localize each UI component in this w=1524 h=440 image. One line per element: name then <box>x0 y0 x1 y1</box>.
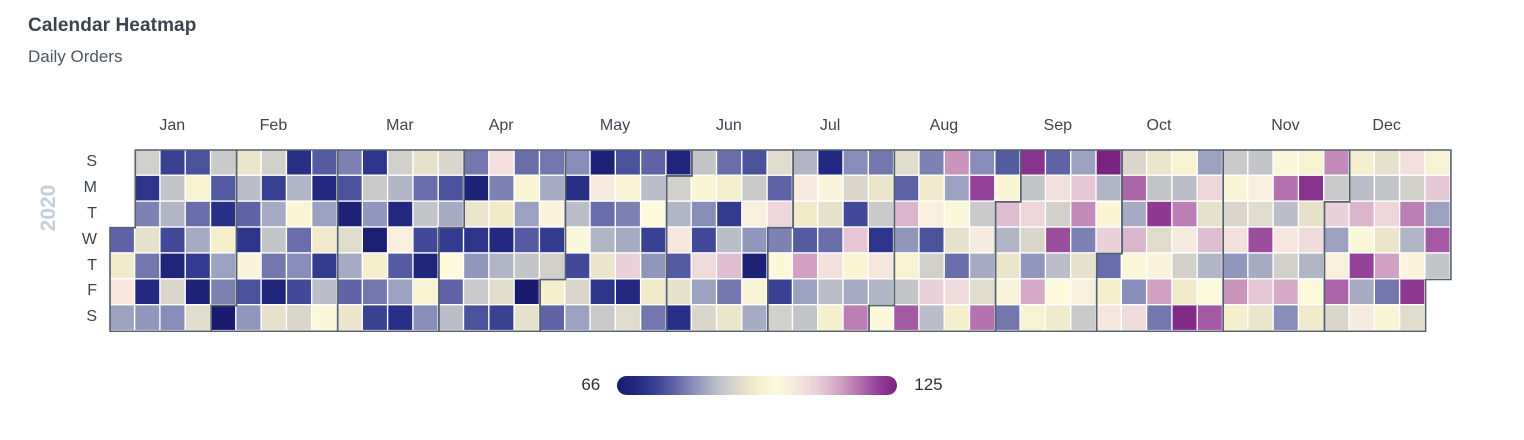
heatmap-cell[interactable] <box>237 305 261 330</box>
heatmap-cell[interactable] <box>667 202 691 227</box>
heatmap-cell[interactable] <box>920 305 944 330</box>
heatmap-cell[interactable] <box>565 228 589 253</box>
heatmap-cell[interactable] <box>641 280 665 305</box>
heatmap-cell[interactable] <box>894 305 918 330</box>
heatmap-cell[interactable] <box>1173 176 1197 201</box>
heatmap-cell[interactable] <box>287 305 311 330</box>
heatmap-cell[interactable] <box>1173 228 1197 253</box>
heatmap-cell[interactable] <box>1324 305 1348 330</box>
heatmap-cell[interactable] <box>439 228 463 253</box>
heatmap-cell[interactable] <box>743 176 767 201</box>
heatmap-cell[interactable] <box>135 305 159 330</box>
heatmap-cell[interactable] <box>616 176 640 201</box>
heatmap-cell[interactable] <box>1198 202 1222 227</box>
heatmap-cell[interactable] <box>894 280 918 305</box>
heatmap-cell[interactable] <box>818 176 842 201</box>
heatmap-cell[interactable] <box>464 150 488 175</box>
heatmap-cell[interactable] <box>591 176 615 201</box>
heatmap-cell[interactable] <box>490 280 514 305</box>
heatmap-cell[interactable] <box>1122 280 1146 305</box>
heatmap-cell[interactable] <box>591 228 615 253</box>
heatmap-cell[interactable] <box>1097 176 1121 201</box>
heatmap-cell[interactable] <box>1249 280 1273 305</box>
heatmap-cell[interactable] <box>1021 228 1045 253</box>
heatmap-cell[interactable] <box>1274 254 1298 279</box>
heatmap-cell[interactable] <box>1375 280 1399 305</box>
heatmap-cell[interactable] <box>135 280 159 305</box>
heatmap-cell[interactable] <box>338 280 362 305</box>
heatmap-cell[interactable] <box>996 150 1020 175</box>
heatmap-cell[interactable] <box>1122 254 1146 279</box>
heatmap-cell[interactable] <box>1324 280 1348 305</box>
heatmap-cell[interactable] <box>591 305 615 330</box>
heatmap-cell[interactable] <box>414 150 438 175</box>
heatmap-cell[interactable] <box>869 280 893 305</box>
heatmap-cell[interactable] <box>490 202 514 227</box>
heatmap-cell[interactable] <box>439 202 463 227</box>
heatmap-cell[interactable] <box>1046 150 1070 175</box>
heatmap-cell[interactable] <box>338 176 362 201</box>
heatmap-cell[interactable] <box>1249 228 1273 253</box>
heatmap-cell[interactable] <box>1173 202 1197 227</box>
heatmap-cell[interactable] <box>945 228 969 253</box>
heatmap-cell[interactable] <box>894 150 918 175</box>
heatmap-cell[interactable] <box>1071 254 1095 279</box>
heatmap-cell[interactable] <box>1375 305 1399 330</box>
heatmap-cell[interactable] <box>186 150 210 175</box>
heatmap-cell[interactable] <box>237 176 261 201</box>
heatmap-cell[interactable] <box>1173 280 1197 305</box>
heatmap-cell[interactable] <box>388 176 412 201</box>
heatmap-cell[interactable] <box>1299 305 1323 330</box>
heatmap-cell[interactable] <box>161 176 185 201</box>
heatmap-cell[interactable] <box>1071 202 1095 227</box>
heatmap-cell[interactable] <box>464 202 488 227</box>
heatmap-cell[interactable] <box>363 305 387 330</box>
heatmap-cell[interactable] <box>135 150 159 175</box>
heatmap-cell[interactable] <box>616 202 640 227</box>
heatmap-cell[interactable] <box>844 280 868 305</box>
heatmap-cell[interactable] <box>1426 202 1450 227</box>
heatmap-cell[interactable] <box>110 254 134 279</box>
heatmap-cell[interactable] <box>464 176 488 201</box>
heatmap-cell[interactable] <box>439 150 463 175</box>
heatmap-cell[interactable] <box>312 305 336 330</box>
heatmap-cell[interactable] <box>970 228 994 253</box>
heatmap-cell[interactable] <box>414 228 438 253</box>
heatmap-cell[interactable] <box>844 202 868 227</box>
heatmap-cell[interactable] <box>894 202 918 227</box>
heatmap-cell[interactable] <box>1400 254 1424 279</box>
heatmap-cell[interactable] <box>920 280 944 305</box>
heatmap-cell[interactable] <box>1122 228 1146 253</box>
heatmap-cell[interactable] <box>1400 150 1424 175</box>
heatmap-cell[interactable] <box>287 228 311 253</box>
heatmap-cell[interactable] <box>540 150 564 175</box>
heatmap-cell[interactable] <box>540 228 564 253</box>
heatmap-cell[interactable] <box>1249 254 1273 279</box>
heatmap-cell[interactable] <box>1350 280 1374 305</box>
heatmap-cell[interactable] <box>717 305 741 330</box>
heatmap-cell[interactable] <box>565 202 589 227</box>
heatmap-cell[interactable] <box>211 176 235 201</box>
heatmap-cell[interactable] <box>717 228 741 253</box>
heatmap-cell[interactable] <box>970 176 994 201</box>
heatmap-cell[interactable] <box>1350 176 1374 201</box>
heatmap-cell[interactable] <box>540 176 564 201</box>
heatmap-cell[interactable] <box>970 280 994 305</box>
heatmap-cell[interactable] <box>1198 280 1222 305</box>
heatmap-cell[interactable] <box>818 150 842 175</box>
heatmap-cell[interactable] <box>1021 305 1045 330</box>
heatmap-cell[interactable] <box>641 305 665 330</box>
heatmap-cell[interactable] <box>540 254 564 279</box>
heatmap-cell[interactable] <box>1299 228 1323 253</box>
heatmap-cell[interactable] <box>996 254 1020 279</box>
heatmap-cell[interactable] <box>1198 150 1222 175</box>
heatmap-cell[interactable] <box>565 176 589 201</box>
heatmap-cell[interactable] <box>515 228 539 253</box>
heatmap-cell[interactable] <box>894 176 918 201</box>
heatmap-cell[interactable] <box>161 202 185 227</box>
heatmap-cell[interactable] <box>262 202 286 227</box>
heatmap-cell[interactable] <box>1122 150 1146 175</box>
heatmap-cell[interactable] <box>844 150 868 175</box>
heatmap-cell[interactable] <box>743 305 767 330</box>
heatmap-cell[interactable] <box>1324 254 1348 279</box>
heatmap-cell[interactable] <box>464 228 488 253</box>
heatmap-cell[interactable] <box>1122 176 1146 201</box>
heatmap-cell[interactable] <box>540 305 564 330</box>
heatmap-cell[interactable] <box>388 202 412 227</box>
heatmap-cell[interactable] <box>743 202 767 227</box>
heatmap-cell[interactable] <box>211 202 235 227</box>
heatmap-cell[interactable] <box>1147 305 1171 330</box>
heatmap-cell[interactable] <box>768 150 792 175</box>
heatmap-cell[interactable] <box>1426 176 1450 201</box>
heatmap-cell[interactable] <box>237 280 261 305</box>
heatmap-cell[interactable] <box>743 150 767 175</box>
heatmap-cell[interactable] <box>667 280 691 305</box>
heatmap-cell[interactable] <box>464 280 488 305</box>
heatmap-cell[interactable] <box>1426 150 1450 175</box>
heatmap-cell[interactable] <box>920 254 944 279</box>
heatmap-cell[interactable] <box>211 305 235 330</box>
heatmap-cell[interactable] <box>565 254 589 279</box>
heatmap-cell[interactable] <box>1426 228 1450 253</box>
heatmap-cell[interactable] <box>1097 280 1121 305</box>
heatmap-cell[interactable] <box>1147 280 1171 305</box>
heatmap-cell[interactable] <box>692 280 716 305</box>
heatmap-cell[interactable] <box>894 228 918 253</box>
heatmap-cell[interactable] <box>1400 176 1424 201</box>
heatmap-cell[interactable] <box>1426 254 1450 279</box>
heatmap-cell[interactable] <box>312 176 336 201</box>
heatmap-cell[interactable] <box>1223 228 1247 253</box>
heatmap-cell[interactable] <box>287 150 311 175</box>
heatmap-cell[interactable] <box>1223 305 1247 330</box>
heatmap-cell[interactable] <box>211 254 235 279</box>
heatmap-cell[interactable] <box>287 176 311 201</box>
heatmap-cell[interactable] <box>515 305 539 330</box>
heatmap-cell[interactable] <box>844 305 868 330</box>
heatmap-cell[interactable] <box>667 305 691 330</box>
heatmap-cell[interactable] <box>1223 202 1247 227</box>
heatmap-cell[interactable] <box>565 305 589 330</box>
heatmap-cell[interactable] <box>388 228 412 253</box>
heatmap-cell[interactable] <box>1274 202 1298 227</box>
heatmap-cell[interactable] <box>363 280 387 305</box>
heatmap-cell[interactable] <box>1097 254 1121 279</box>
heatmap-cell[interactable] <box>793 228 817 253</box>
heatmap-cell[interactable] <box>793 202 817 227</box>
heatmap-cell[interactable] <box>1071 280 1095 305</box>
heatmap-cell[interactable] <box>414 305 438 330</box>
heatmap-cell[interactable] <box>515 254 539 279</box>
heatmap-cell[interactable] <box>161 280 185 305</box>
heatmap-cell[interactable] <box>186 176 210 201</box>
heatmap-cell[interactable] <box>1046 228 1070 253</box>
heatmap-cell[interactable] <box>1223 280 1247 305</box>
heatmap-cell[interactable] <box>591 150 615 175</box>
heatmap-cell[interactable] <box>945 202 969 227</box>
heatmap-cell[interactable] <box>1046 202 1070 227</box>
heatmap-cell[interactable] <box>287 254 311 279</box>
heatmap-cell[interactable] <box>388 280 412 305</box>
heatmap-cell[interactable] <box>515 150 539 175</box>
heatmap-cell[interactable] <box>1375 202 1399 227</box>
heatmap-cell[interactable] <box>692 202 716 227</box>
heatmap-cell[interactable] <box>1324 202 1348 227</box>
heatmap-cell[interactable] <box>211 228 235 253</box>
heatmap-cell[interactable] <box>439 280 463 305</box>
heatmap-cell[interactable] <box>768 254 792 279</box>
heatmap-cell[interactable] <box>844 176 868 201</box>
heatmap-cell[interactable] <box>869 150 893 175</box>
heatmap-cell[interactable] <box>186 280 210 305</box>
heatmap-cell[interactable] <box>667 228 691 253</box>
heatmap-cell[interactable] <box>312 202 336 227</box>
heatmap-cell[interactable] <box>641 254 665 279</box>
heatmap-cell[interactable] <box>388 305 412 330</box>
heatmap-cell[interactable] <box>490 176 514 201</box>
heatmap-cell[interactable] <box>515 202 539 227</box>
heatmap-cell[interactable] <box>262 305 286 330</box>
heatmap-cell[interactable] <box>540 202 564 227</box>
heatmap-cell[interactable] <box>616 228 640 253</box>
heatmap-cell[interactable] <box>667 150 691 175</box>
heatmap-cell[interactable] <box>768 280 792 305</box>
heatmap-cell[interactable] <box>768 176 792 201</box>
heatmap-cell[interactable] <box>338 254 362 279</box>
heatmap-cell[interactable] <box>1147 176 1171 201</box>
heatmap-cell[interactable] <box>1274 228 1298 253</box>
heatmap-cell[interactable] <box>414 176 438 201</box>
heatmap-cell[interactable] <box>945 305 969 330</box>
heatmap-cell[interactable] <box>616 150 640 175</box>
heatmap-cell[interactable] <box>439 254 463 279</box>
heatmap-cell[interactable] <box>1122 305 1146 330</box>
heatmap-cell[interactable] <box>388 150 412 175</box>
heatmap-cell[interactable] <box>1097 150 1121 175</box>
heatmap-cell[interactable] <box>439 176 463 201</box>
heatmap-cell[interactable] <box>262 254 286 279</box>
heatmap-cell[interactable] <box>793 254 817 279</box>
heatmap-cell[interactable] <box>1198 254 1222 279</box>
heatmap-cell[interactable] <box>1046 176 1070 201</box>
heatmap-cell[interactable] <box>869 228 893 253</box>
heatmap-cell[interactable] <box>237 202 261 227</box>
heatmap-cell[interactable] <box>1249 150 1273 175</box>
heatmap-cell[interactable] <box>338 202 362 227</box>
heatmap-cell[interactable] <box>135 228 159 253</box>
heatmap-cell[interactable] <box>869 305 893 330</box>
heatmap-cell[interactable] <box>490 150 514 175</box>
heatmap-cell[interactable] <box>743 280 767 305</box>
heatmap-cell[interactable] <box>970 150 994 175</box>
heatmap-cell[interactable] <box>844 254 868 279</box>
heatmap-cell[interactable] <box>1350 228 1374 253</box>
heatmap-cell[interactable] <box>1198 176 1222 201</box>
heatmap-cell[interactable] <box>1274 305 1298 330</box>
heatmap-cell[interactable] <box>692 228 716 253</box>
heatmap-cell[interactable] <box>161 228 185 253</box>
heatmap-cell[interactable] <box>1223 254 1247 279</box>
heatmap-cell[interactable] <box>110 228 134 253</box>
heatmap-cell[interactable] <box>818 202 842 227</box>
heatmap-cell[interactable] <box>717 254 741 279</box>
heatmap-cell[interactable] <box>844 228 868 253</box>
heatmap-cell[interactable] <box>1324 176 1348 201</box>
heatmap-cell[interactable] <box>920 176 944 201</box>
heatmap-cell[interactable] <box>717 280 741 305</box>
heatmap-cell[interactable] <box>211 280 235 305</box>
heatmap-cell[interactable] <box>1173 150 1197 175</box>
heatmap-cell[interactable] <box>996 228 1020 253</box>
heatmap-cell[interactable] <box>894 254 918 279</box>
heatmap-cell[interactable] <box>869 202 893 227</box>
heatmap-cell[interactable] <box>793 150 817 175</box>
heatmap-cell[interactable] <box>945 280 969 305</box>
heatmap-cell[interactable] <box>262 280 286 305</box>
heatmap-cell[interactable] <box>793 280 817 305</box>
heatmap-cell[interactable] <box>1223 150 1247 175</box>
heatmap-cell[interactable] <box>186 305 210 330</box>
heatmap-cell[interactable] <box>692 150 716 175</box>
heatmap-cell[interactable] <box>287 280 311 305</box>
heatmap-cell[interactable] <box>1198 228 1222 253</box>
heatmap-cell[interactable] <box>1350 254 1374 279</box>
heatmap-cell[interactable] <box>490 254 514 279</box>
heatmap-cell[interactable] <box>490 228 514 253</box>
heatmap-cell[interactable] <box>717 150 741 175</box>
heatmap-cell[interactable] <box>1021 176 1045 201</box>
heatmap-cell[interactable] <box>1299 280 1323 305</box>
heatmap-cell[interactable] <box>793 176 817 201</box>
heatmap-cell[interactable] <box>186 228 210 253</box>
heatmap-cell[interactable] <box>439 305 463 330</box>
heatmap-cell[interactable] <box>135 202 159 227</box>
heatmap-cell[interactable] <box>920 228 944 253</box>
heatmap-cell[interactable] <box>338 150 362 175</box>
heatmap-cell[interactable] <box>363 150 387 175</box>
heatmap-cell[interactable] <box>363 228 387 253</box>
heatmap-cell[interactable] <box>1350 305 1374 330</box>
heatmap-cell[interactable] <box>1147 150 1171 175</box>
heatmap-cell[interactable] <box>616 305 640 330</box>
heatmap-cell[interactable] <box>591 202 615 227</box>
heatmap-cell[interactable] <box>945 150 969 175</box>
heatmap-cell[interactable] <box>1375 150 1399 175</box>
heatmap-cell[interactable] <box>161 254 185 279</box>
heatmap-cell[interactable] <box>1173 254 1197 279</box>
heatmap-cell[interactable] <box>1223 176 1247 201</box>
heatmap-cell[interactable] <box>1046 280 1070 305</box>
heatmap-cell[interactable] <box>692 176 716 201</box>
heatmap-cell[interactable] <box>312 254 336 279</box>
heatmap-cell[interactable] <box>338 228 362 253</box>
heatmap-cell[interactable] <box>565 280 589 305</box>
heatmap-cell[interactable] <box>262 228 286 253</box>
heatmap-cell[interactable] <box>1173 305 1197 330</box>
heatmap-cell[interactable] <box>869 254 893 279</box>
heatmap-cell[interactable] <box>970 305 994 330</box>
heatmap-cell[interactable] <box>1350 202 1374 227</box>
heatmap-cell[interactable] <box>1400 305 1424 330</box>
heatmap-cell[interactable] <box>793 305 817 330</box>
heatmap-cell[interactable] <box>161 150 185 175</box>
heatmap-cell[interactable] <box>1274 176 1298 201</box>
heatmap-cell[interactable] <box>237 150 261 175</box>
heatmap-cell[interactable] <box>110 305 134 330</box>
heatmap-cell[interactable] <box>920 150 944 175</box>
heatmap-cell[interactable] <box>1122 202 1146 227</box>
heatmap-cell[interactable] <box>768 228 792 253</box>
heatmap-cell[interactable] <box>161 305 185 330</box>
heatmap-cell[interactable] <box>363 176 387 201</box>
heatmap-cell[interactable] <box>1097 202 1121 227</box>
heatmap-cell[interactable] <box>996 280 1020 305</box>
heatmap-cell[interactable] <box>135 254 159 279</box>
heatmap-cell[interactable] <box>818 280 842 305</box>
heatmap-cell[interactable] <box>970 254 994 279</box>
heatmap-cell[interactable] <box>996 176 1020 201</box>
heatmap-cell[interactable] <box>1147 202 1171 227</box>
heatmap-cell[interactable] <box>186 254 210 279</box>
heatmap-cell[interactable] <box>641 176 665 201</box>
heatmap-cell[interactable] <box>1299 150 1323 175</box>
heatmap-cell[interactable] <box>211 150 235 175</box>
heatmap-cell[interactable] <box>1299 176 1323 201</box>
heatmap-cell[interactable] <box>388 254 412 279</box>
heatmap-cell[interactable] <box>1071 305 1095 330</box>
heatmap-cell[interactable] <box>1375 254 1399 279</box>
heatmap-cell[interactable] <box>869 176 893 201</box>
heatmap-cell[interactable] <box>262 150 286 175</box>
heatmap-cell[interactable] <box>237 228 261 253</box>
heatmap-cell[interactable] <box>414 280 438 305</box>
heatmap-cell[interactable] <box>920 202 944 227</box>
heatmap-cell[interactable] <box>1324 228 1348 253</box>
heatmap-cell[interactable] <box>1274 280 1298 305</box>
heatmap-cell[interactable] <box>768 305 792 330</box>
heatmap-cell[interactable] <box>287 202 311 227</box>
heatmap-cell[interactable] <box>1071 176 1095 201</box>
heatmap-cell[interactable] <box>1375 228 1399 253</box>
heatmap-cell[interactable] <box>312 228 336 253</box>
heatmap-cell[interactable] <box>692 254 716 279</box>
heatmap-cell[interactable] <box>363 202 387 227</box>
